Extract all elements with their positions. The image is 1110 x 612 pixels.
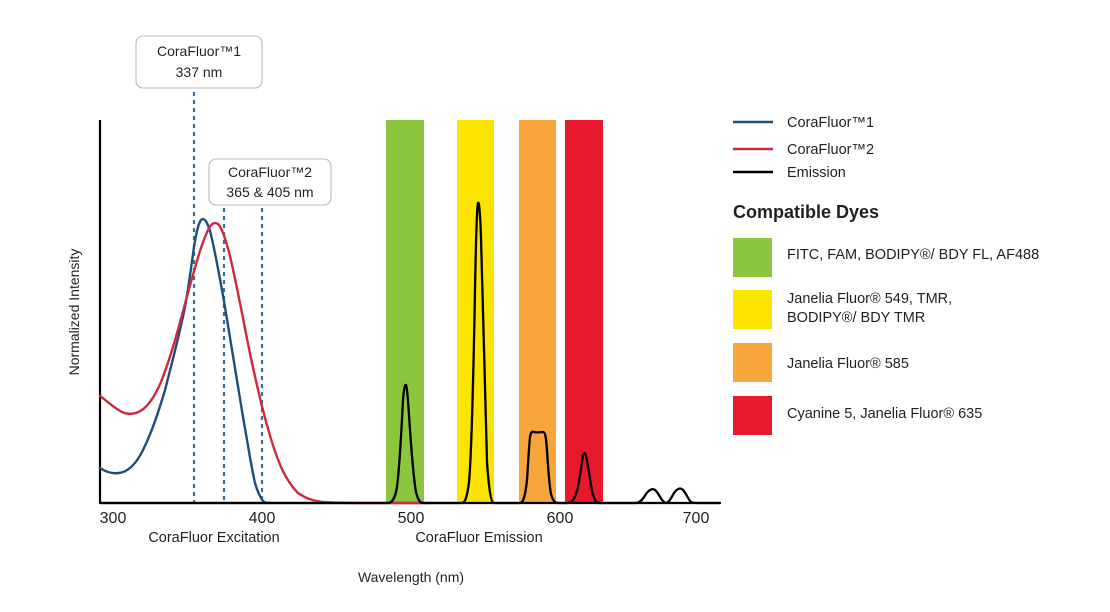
legend-label-yellow-line1: Janelia Fluor® 549, TMR,: [787, 291, 952, 307]
legend-swatch-red: [733, 396, 772, 435]
legend-swatch-yellow: [733, 290, 772, 329]
legend-swatch-orange: [733, 343, 772, 382]
callout-corafluor-2: CoraFluor™2 365 & 405 nm: [209, 159, 331, 205]
legend-label-green-line1: FITC, FAM, BODIPY®/ BDY FL, AF488: [787, 247, 1039, 263]
legend-label-corafluor-2: CoraFluor™2: [787, 142, 874, 158]
band-green: [386, 120, 424, 503]
x-axis-title: Wavelength (nm): [358, 569, 464, 585]
x-tick-500: 500: [398, 510, 425, 527]
legend-label-corafluor-1: CoraFluor™1: [787, 115, 874, 131]
x-tick-700: 700: [683, 510, 710, 527]
x-tick-600: 600: [547, 510, 574, 527]
legend-label-yellow-line2: BODIPY®/ BDY TMR: [787, 310, 925, 326]
legend-label-orange-line1: Janelia Fluor® 585: [787, 356, 909, 372]
x-tick-300: 300: [100, 510, 127, 527]
band-red: [565, 120, 603, 503]
sublabel-emission: CoraFluor Emission: [415, 530, 542, 546]
callout-corafluor-1: CoraFluor™1 337 nm: [136, 36, 262, 88]
legend-heading: Compatible Dyes: [733, 202, 879, 222]
y-axis-title: Normalized Intensity: [66, 249, 82, 376]
legend-label-emission: Emission: [787, 165, 846, 181]
sublabel-excitation: CoraFluor Excitation: [148, 530, 279, 546]
legend-swatch-green: [733, 238, 772, 277]
legend-label-red-line1: Cyanine 5, Janelia Fluor® 635: [787, 406, 982, 422]
callout-2-line1: CoraFluor™2: [228, 164, 312, 180]
spectra-figure: 300 400 500 600 700 CoraFluor Excitation…: [0, 0, 1110, 612]
x-tick-400: 400: [249, 510, 276, 527]
band-orange: [519, 120, 556, 503]
callout-1-line2: 337 nm: [176, 64, 223, 80]
callout-1-line1: CoraFluor™1: [157, 43, 241, 59]
callout-2-line2: 365 & 405 nm: [226, 184, 313, 200]
